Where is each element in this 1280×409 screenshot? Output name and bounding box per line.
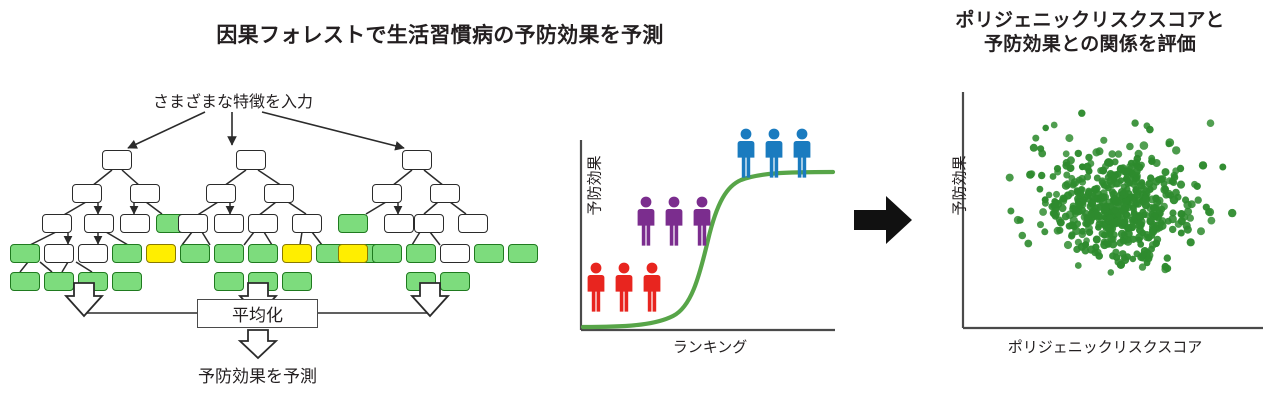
tree-leaf [180, 244, 210, 263]
ranking-chart-x-axis-label: ランキング [600, 336, 820, 357]
tree-node-internal [44, 244, 74, 263]
tree-leaf [112, 272, 142, 291]
prs-effect-chart: 予防効果 ポリジェニックリスクスコア [915, 0, 1280, 409]
tree-node-internal [264, 184, 294, 203]
tree-node-internal [430, 184, 460, 203]
tree-leaf-highlighted [146, 244, 176, 263]
tree-leaf [372, 244, 402, 263]
tree-node-internal [72, 184, 102, 203]
low-effect-group-icons [588, 263, 661, 312]
tree-leaf [508, 244, 538, 263]
tree-leaf [474, 244, 504, 263]
scatter-points [1006, 110, 1237, 276]
mid-effect-group-icons [638, 197, 711, 246]
forest-output-label: 予防効果を予測 [150, 362, 365, 387]
tree-leaf [214, 244, 244, 263]
tree-leaf [44, 272, 74, 291]
tree-leaf [112, 244, 142, 263]
tree-leaf [406, 272, 436, 291]
tree-leaf [282, 272, 312, 291]
tree-node-internal [120, 214, 150, 233]
tree-node-internal [84, 214, 114, 233]
tree-leaf [10, 244, 40, 263]
tree-node-root [402, 150, 432, 170]
ranking-effect-chart: 予防効果 ランキング [545, 0, 855, 409]
tree-node-internal [440, 244, 470, 263]
right-panel-title-line1: ポリジェニックリスクスコアと [915, 8, 1265, 32]
tree-node-internal [178, 214, 208, 233]
forest-connectors [0, 0, 545, 409]
tree-node-internal [414, 214, 444, 233]
tree-node-internal [206, 184, 236, 203]
tree-node-root [236, 150, 266, 170]
tree-leaf-highlighted [282, 244, 312, 263]
tree-node-root [102, 150, 132, 170]
tree-leaf-highlighted [338, 244, 368, 263]
tree-node-internal [130, 184, 160, 203]
prs-chart-y-axis-label: 予防効果 [949, 126, 970, 246]
tree-node-internal [78, 244, 108, 263]
tree-leaf [214, 272, 244, 291]
tree-leaf [10, 272, 40, 291]
tree-leaf [78, 272, 108, 291]
ranking-chart-y-axis-label: 予防効果 [584, 131, 605, 241]
averaging-box: 平均化 [197, 299, 318, 328]
tree-node-internal [292, 214, 322, 233]
right-arrow-icon [852, 192, 914, 248]
tree-leaf [338, 214, 368, 233]
right-panel-title: ポリジェニックリスクスコアと 予防効果との関係を評価 [915, 8, 1265, 57]
tree-leaf [440, 272, 470, 291]
prs-effect-plot [915, 10, 1280, 350]
tree-node-internal [458, 214, 488, 233]
tree-node-internal [248, 214, 278, 233]
tree-leaf [248, 272, 278, 291]
prs-chart-x-axis-label: ポリジェニックリスクスコア [955, 336, 1255, 357]
right-panel-title-line2: 予防効果との関係を評価 [915, 32, 1265, 56]
tree-node-internal [384, 214, 414, 233]
causal-forest-panel: さまざまな特徴を入力 [0, 0, 545, 409]
tree-leaf [248, 244, 278, 263]
high-effect-group-icons [738, 129, 811, 178]
tree-node-internal [214, 214, 244, 233]
figure-root: 因果フォレストで生活習慣病の予防効果を予測 さまざまな特徴を入力 [0, 0, 1280, 409]
tree-leaf [406, 244, 436, 263]
tree-node-internal [372, 184, 402, 203]
tree-node-internal [42, 214, 72, 233]
